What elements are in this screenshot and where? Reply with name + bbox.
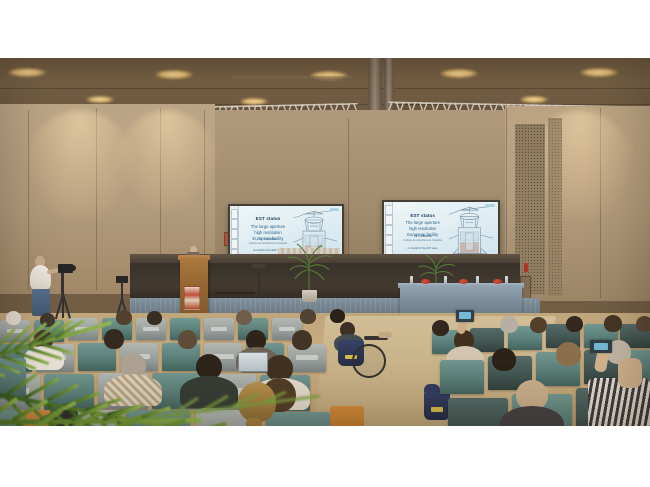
foreground-palm-secondary (150, 388, 330, 426)
slide-subtitle-line: The large aperture (244, 224, 292, 230)
attendee-head (636, 316, 650, 332)
slide-affiliation: Instituto de Astrofisica de Canarias (244, 242, 292, 246)
orange-bag (330, 406, 364, 426)
palm-foliage (286, 240, 332, 296)
wheelchair-user (334, 322, 400, 380)
photo-frame: EST status The large aperture high resol… (0, 0, 650, 487)
est-logo (330, 208, 339, 211)
attendee-arm (618, 358, 642, 388)
wheelchair-wheel (352, 344, 386, 378)
palm-frond (0, 320, 118, 383)
backpack-strap (424, 384, 440, 392)
backpack-on-floor (424, 390, 450, 420)
videographer-shirt (30, 265, 51, 291)
palm-fronds (150, 388, 330, 426)
videographer (30, 256, 84, 322)
mic-stand (258, 268, 260, 296)
mic-stand-head (252, 264, 265, 268)
downlight (440, 69, 478, 78)
flower-arrangement (459, 279, 468, 284)
water-bottle (476, 276, 479, 284)
tripod-column (61, 273, 64, 295)
downlight (155, 70, 193, 79)
ceiling-duct (232, 76, 352, 80)
water-bottle (444, 276, 447, 284)
attendee-head (492, 348, 516, 371)
camera-screen (459, 312, 471, 319)
videographer-trousers (32, 289, 50, 316)
seat[interactable] (440, 360, 484, 394)
telescope-illustration (445, 204, 496, 256)
attendee-head (300, 309, 316, 324)
downlight (8, 68, 46, 77)
water-bottle (505, 276, 508, 284)
stage-palm-left (286, 240, 332, 301)
acoustic-panel (548, 118, 562, 296)
attendee-head (330, 309, 345, 323)
fire-equipment-sign (524, 263, 528, 272)
flower-arrangement (493, 279, 502, 284)
slide-date: on behalf of the EST team (398, 247, 447, 250)
phone-screen (594, 343, 608, 351)
smartphone[interactable] (590, 340, 612, 353)
attendee-arm (378, 332, 392, 338)
downlight (86, 96, 114, 103)
tripod-leg (62, 294, 64, 318)
slide-body: EST status The large aperture high resol… (392, 202, 498, 261)
plant-pot (302, 290, 317, 302)
stage-cable (215, 292, 255, 294)
slide-title: EST status (244, 216, 292, 222)
water-bottle (410, 276, 413, 284)
downlight (520, 96, 548, 103)
event-poster (184, 286, 200, 310)
downlight (580, 68, 618, 77)
slide-title: EST status (398, 213, 447, 219)
tripod-column (121, 282, 123, 300)
compact-camera (456, 310, 474, 322)
attendee-head (604, 315, 622, 332)
est-logo (485, 204, 495, 207)
slide-affiliation: Instituto de Astrofisica de Canarias (398, 239, 447, 243)
attendee-head (530, 317, 547, 333)
attendee-head (500, 316, 518, 333)
conference-hall-photograph: EST status The large aperture high resol… (0, 58, 650, 426)
attendee-head (566, 316, 583, 332)
wall-panel-seam (348, 118, 349, 268)
backpack-badge (431, 407, 442, 412)
flower-arrangement (421, 279, 430, 284)
camera-lens (70, 265, 76, 271)
seat[interactable] (448, 398, 508, 426)
downlight (240, 98, 268, 105)
ceiling-seam (0, 88, 650, 89)
